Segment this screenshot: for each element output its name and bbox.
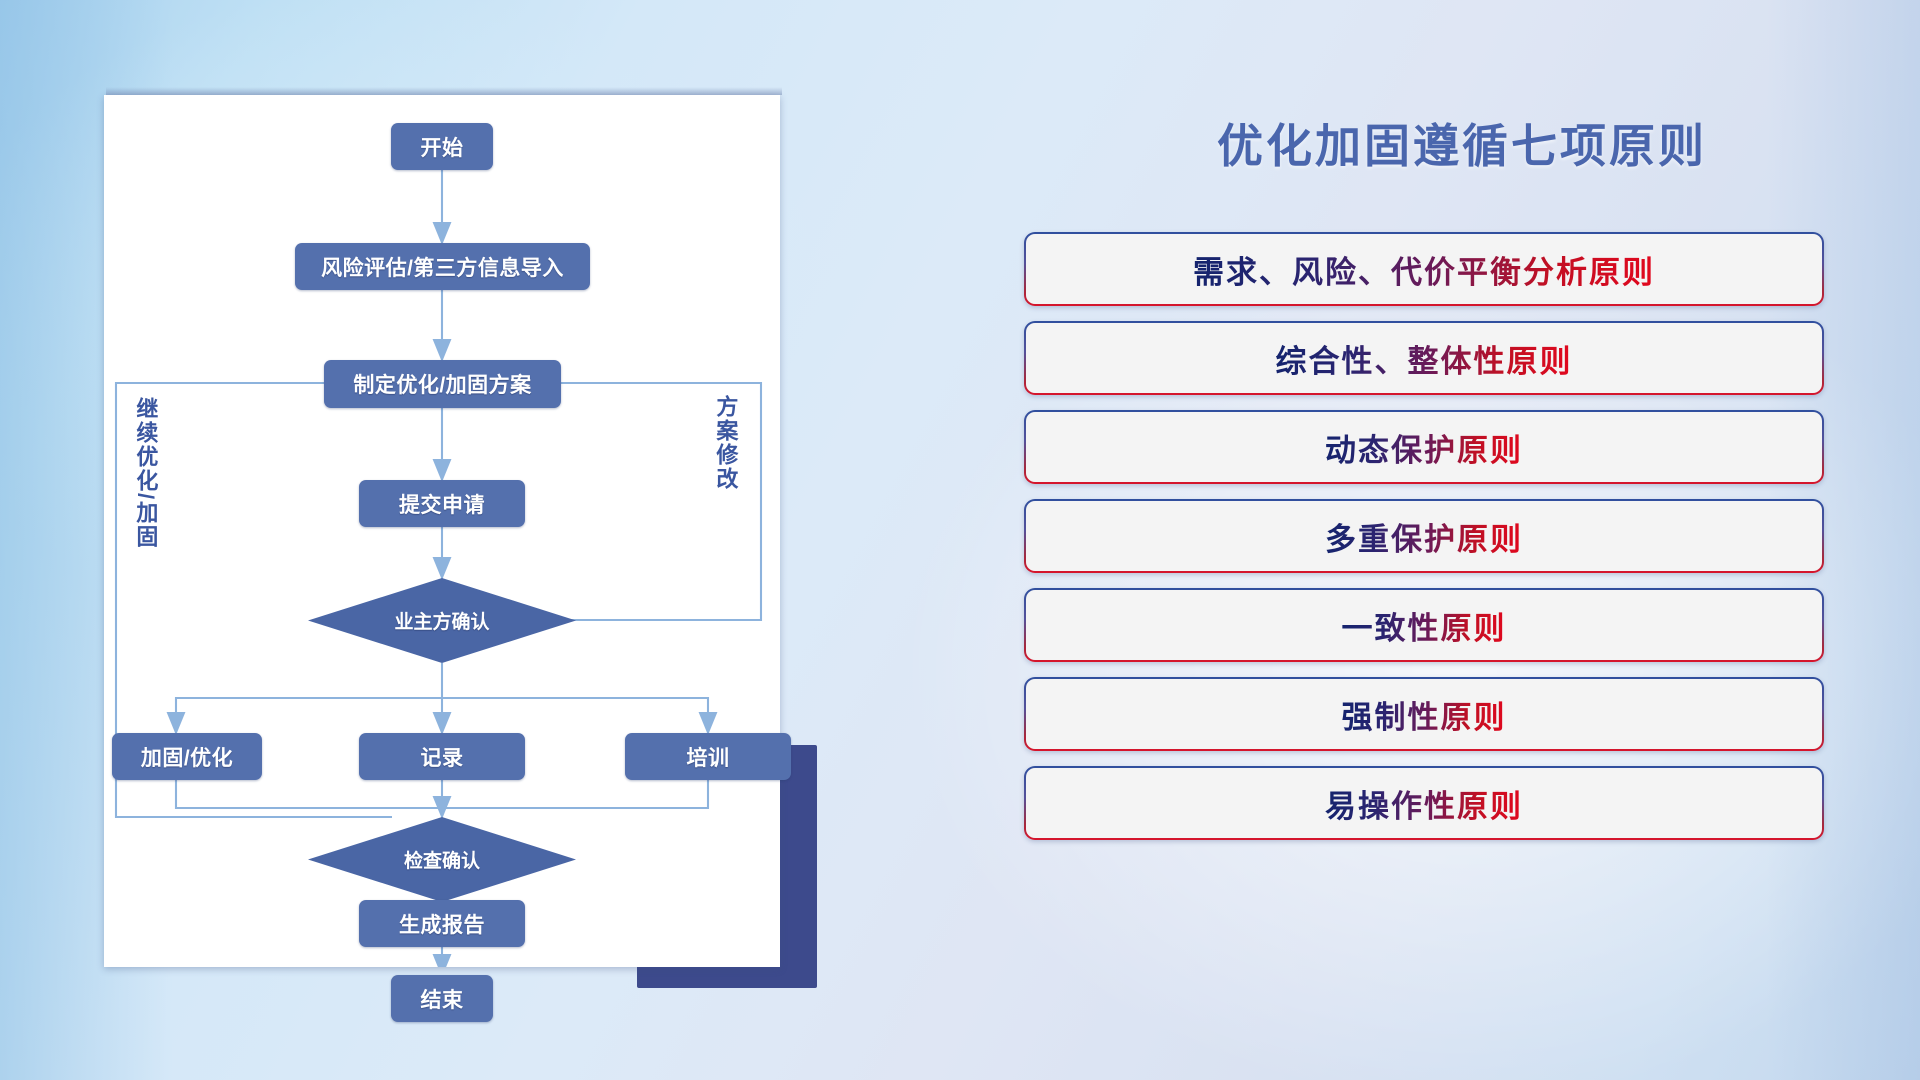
flow-node-end[interactable]: 结束 [391,975,493,1022]
principle-label: 一致性原则 [1342,603,1507,648]
principle-card[interactable]: 综合性、整体性原则 [1024,321,1824,395]
flow-decision-owner-confirm[interactable]: 业主方确认 [308,578,576,663]
principle-label: 多重保护原则 [1325,514,1523,559]
flow-decision-owner-confirm-label: 业主方确认 [394,607,489,634]
flowchart-card: 开始 风险评估/第三方信息导入 制定优化/加固方案 提交申请 业主方确认 加固/… [104,95,780,967]
principle-label: 需求、风险、代价平衡分析原则 [1193,247,1655,292]
principle-label: 动态保护原则 [1325,425,1523,470]
flow-node-start-label: 开始 [421,132,464,162]
principle-label: 易操作性原则 [1325,781,1523,826]
edge-label-continue-optimize: 继续优化/加固 [134,397,157,549]
page-title: 优化加固遵循七项原则 [1152,110,1772,176]
principle-card[interactable]: 强制性原则 [1024,677,1824,751]
flow-node-record[interactable]: 记录 [359,733,525,780]
flow-node-make-plan[interactable]: 制定优化/加固方案 [324,360,561,408]
flow-node-make-plan-label: 制定优化/加固方案 [353,369,531,399]
principle-card-face: 易操作性原则 [1026,768,1822,838]
principle-label: 综合性、整体性原则 [1276,336,1573,381]
principles-list: 需求、风险、代价平衡分析原则 综合性、整体性原则 动态保护原则 多重保护原则 一… [1024,232,1824,855]
flow-node-risk-assessment-label: 风险评估/第三方信息导入 [321,252,564,282]
flow-node-reinforce-optimize[interactable]: 加固/优化 [112,733,262,780]
principle-card[interactable]: 动态保护原则 [1024,410,1824,484]
flow-node-record-label: 记录 [421,742,464,772]
principle-card[interactable]: 一致性原则 [1024,588,1824,662]
flow-node-submit-application[interactable]: 提交申请 [359,480,525,527]
edge-label-plan-revision: 方案修改 [714,395,737,491]
principle-card[interactable]: 多重保护原则 [1024,499,1824,573]
principle-card-face: 一致性原则 [1026,590,1822,660]
flow-node-start[interactable]: 开始 [391,123,493,170]
principle-card-face: 动态保护原则 [1026,412,1822,482]
principle-label: 强制性原则 [1342,692,1507,737]
flow-node-training-label: 培训 [687,742,730,772]
flow-node-generate-report[interactable]: 生成报告 [359,900,525,947]
flow-node-submit-application-label: 提交申请 [399,489,485,519]
principle-card[interactable]: 易操作性原则 [1024,766,1824,840]
flow-node-generate-report-label: 生成报告 [399,909,485,939]
flow-node-reinforce-optimize-label: 加固/优化 [141,742,233,772]
flow-node-risk-assessment[interactable]: 风险评估/第三方信息导入 [295,243,590,290]
flow-node-training[interactable]: 培训 [625,733,791,780]
flow-decision-inspect-confirm-label: 检查确认 [404,846,480,873]
principle-card-face: 需求、风险、代价平衡分析原则 [1026,234,1822,304]
principle-card-face: 强制性原则 [1026,679,1822,749]
principle-card-face: 综合性、整体性原则 [1026,323,1822,393]
flow-node-end-label: 结束 [421,984,464,1014]
principle-card-face: 多重保护原则 [1026,501,1822,571]
principle-card[interactable]: 需求、风险、代价平衡分析原则 [1024,232,1824,306]
flow-decision-inspect-confirm[interactable]: 检查确认 [308,817,576,902]
